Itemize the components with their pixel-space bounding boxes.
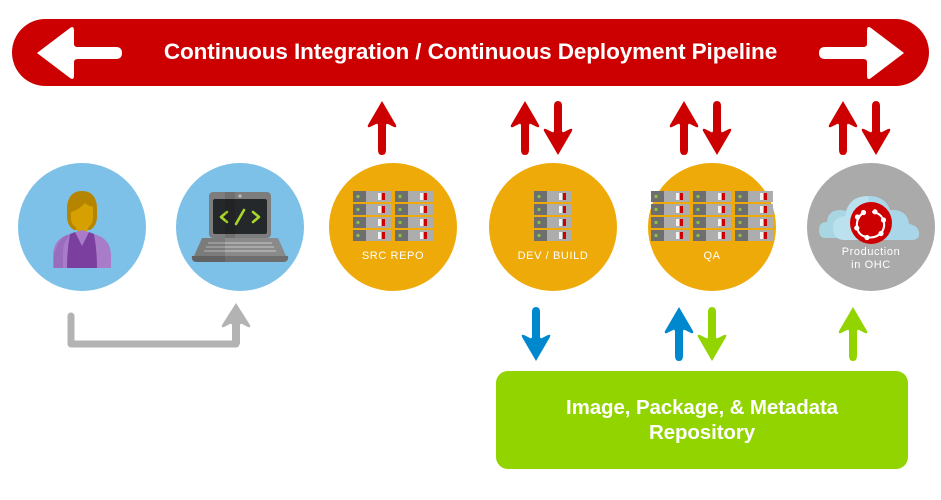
node-dev-build-label: DEV / BUILD <box>518 250 589 263</box>
node-src-repo-label: SRC REPO <box>362 250 424 263</box>
person-icon <box>45 186 119 268</box>
node-production-inner: Production in OHC <box>819 182 923 272</box>
arrow-down-qa-icon <box>702 100 732 156</box>
node-laptop[interactable] <box>176 163 304 291</box>
arrow-up-qa-icon <box>669 100 699 156</box>
server-rack-icon <box>353 191 433 243</box>
arrow-up-dev-build-icon <box>510 100 540 156</box>
pipeline-banner-title: Continuous Integration / Continuous Depl… <box>164 41 777 64</box>
arrow-down-production-icon <box>861 100 891 156</box>
server-rack-icon <box>651 191 773 243</box>
node-developer-inner <box>45 186 119 268</box>
node-src-repo-inner: SRC REPO <box>353 191 433 263</box>
repository-box-label: Image, Package, & Metadata Repository <box>566 395 838 445</box>
arrow-right-icon <box>817 25 907 81</box>
node-laptop-inner <box>191 190 289 264</box>
node-dev-build-inner: DEV / BUILD <box>518 191 589 263</box>
arrow-down-dev-build-to-repo-icon <box>521 306 551 362</box>
cicd-pipeline-diagram: Continuous Integration / Continuous Depl… <box>0 0 941 500</box>
arrow-up-production-icon <box>828 100 858 156</box>
arrow-up-repo-to-qa-icon <box>664 306 694 362</box>
arrow-down-qa-to-repo-icon <box>697 306 727 362</box>
pipeline-banner: Continuous Integration / Continuous Depl… <box>12 19 929 86</box>
node-developer[interactable] <box>18 163 146 291</box>
cloud-openshift-icon <box>819 182 923 244</box>
node-production-label: Production in OHC <box>842 246 901 272</box>
laptop-code-icon <box>191 190 289 264</box>
node-src-repo[interactable]: SRC REPO <box>329 163 457 291</box>
node-qa[interactable]: QA <box>648 163 776 291</box>
repository-box[interactable]: Image, Package, & Metadata Repository <box>496 371 908 469</box>
arrow-left-icon <box>34 25 124 81</box>
developer-to-laptop-feedback-arrow <box>60 300 280 360</box>
arrow-up-repo-to-production-icon <box>838 306 868 362</box>
arrow-down-dev-build-icon <box>543 100 573 156</box>
node-dev-build[interactable]: DEV / BUILD <box>489 163 617 291</box>
node-production[interactable]: Production in OHC <box>807 163 935 291</box>
node-qa-label: QA <box>703 250 720 263</box>
server-rack-icon <box>534 191 572 243</box>
node-qa-inner: QA <box>651 191 773 263</box>
arrow-up-src-repo-icon <box>367 100 397 156</box>
